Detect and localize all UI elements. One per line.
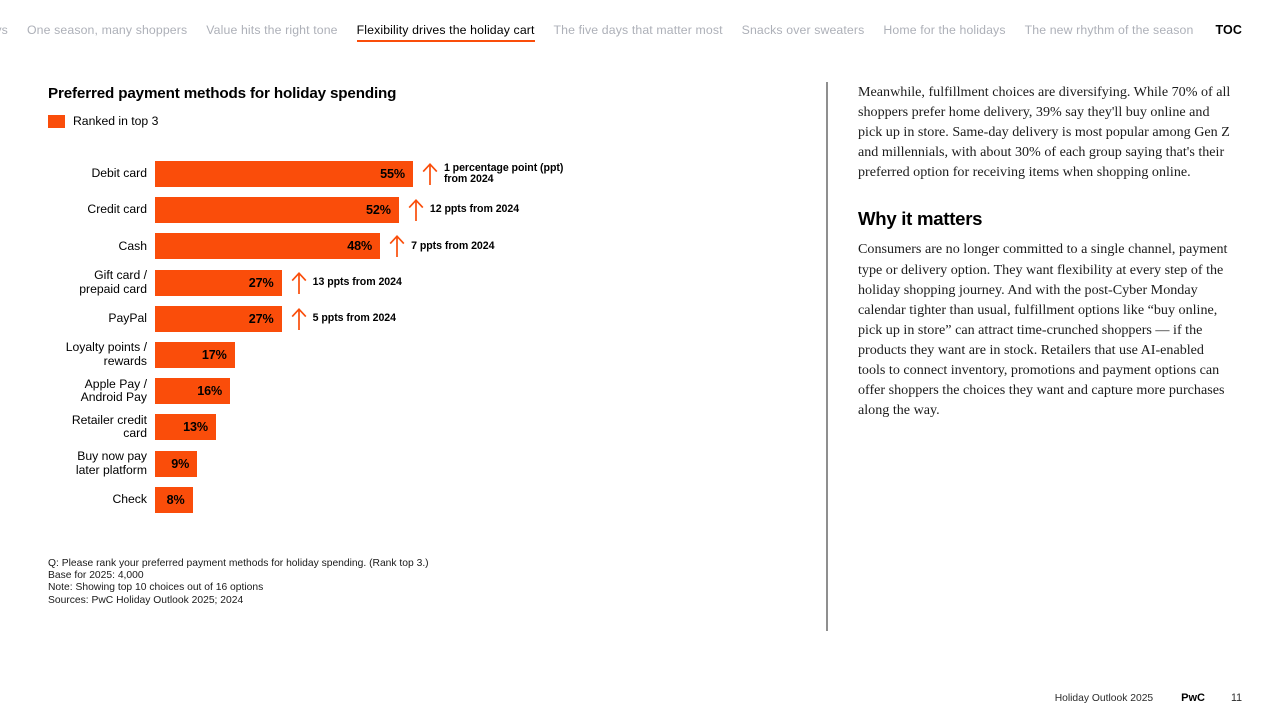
bar: 17%: [155, 342, 235, 368]
bar-row: Debit card55%1 percentage point (ppt) fr…: [48, 156, 808, 192]
bar-row: Loyalty points / rewards17%: [48, 337, 808, 373]
delta-annotation: 12 ppts from 2024: [408, 197, 519, 223]
footer-page-number: 11: [1231, 692, 1242, 704]
bar-row: Gift card / prepaid card27%13 ppts from …: [48, 265, 808, 301]
bar-row: Check8%: [48, 482, 808, 518]
nav-item-1[interactable]: One season, many shoppers: [27, 19, 187, 42]
chart-footnotes: Q: Please rank your preferred payment me…: [48, 558, 808, 607]
bar-wrapper: 16%: [155, 373, 230, 409]
delta-annotation: 1 percentage point (ppt) from 2024: [422, 161, 563, 187]
bar-row: Cash48%7 ppts from 2024: [48, 228, 808, 264]
bar-label: Loyalty points / rewards: [48, 341, 155, 368]
bar-wrapper: 17%: [155, 337, 235, 373]
why-it-matters-paragraph: Consumers are no longer committed to a s…: [858, 239, 1231, 420]
nav-toc-button[interactable]: TOC: [1215, 19, 1242, 42]
bar-wrapper: 27%13 ppts from 2024: [155, 265, 402, 301]
legend-label: Ranked in top 3: [73, 114, 158, 128]
bar-label: Buy now pay later platform: [48, 450, 155, 477]
footnote-line: Base for 2025: 4,000: [48, 570, 808, 582]
footnote-line: Sources: PwC Holiday Outlook 2025; 2024: [48, 595, 808, 607]
footnote-line: Q: Please rank your preferred payment me…: [48, 558, 808, 570]
chart-panel: Preferred payment methods for holiday sp…: [48, 60, 808, 607]
bar-chart: Debit card55%1 percentage point (ppt) fr…: [48, 156, 808, 518]
delta-annotation: 13 ppts from 2024: [291, 270, 402, 296]
delta-text: 12 ppts from 2024: [430, 204, 519, 216]
bar-value-label: 9%: [171, 457, 189, 471]
bar-value-label: 27%: [249, 276, 274, 290]
nav-item-4[interactable]: The five days that matter most: [554, 19, 723, 42]
bar: 13%: [155, 414, 216, 440]
bar-label: Cash: [48, 240, 155, 254]
bar-row: PayPal27%5 ppts from 2024: [48, 301, 808, 337]
delta-text: 13 ppts from 2024: [313, 277, 402, 289]
footnote-line: Note: Showing top 10 choices out of 16 o…: [48, 582, 808, 594]
bar-label: PayPal: [48, 312, 155, 326]
footer-brand-pwc: PwC: [1181, 692, 1205, 704]
arrow-up-icon: [408, 198, 424, 222]
why-it-matters-heading: Why it matters: [858, 208, 1231, 230]
page-footer: Holiday Outlook 2025 PwC 11: [1055, 692, 1242, 704]
bar-value-label: 27%: [249, 312, 274, 326]
bar-wrapper: 8%: [155, 482, 193, 518]
arrow-up-icon: [291, 271, 307, 295]
delta-text: 1 percentage point (ppt) from 2024: [444, 163, 563, 186]
bar-value-label: 55%: [380, 167, 405, 181]
legend-swatch-ranked-in-top-3: [48, 115, 65, 128]
bar-wrapper: 52%12 ppts from 2024: [155, 192, 519, 228]
bar-wrapper: 48%7 ppts from 2024: [155, 228, 494, 264]
bar-label: Apple Pay / Android Pay: [48, 378, 155, 405]
bar-label: Check: [48, 493, 155, 507]
bar: 9%: [155, 451, 197, 477]
bar-value-label: 48%: [347, 239, 372, 253]
footer-document-title: Holiday Outlook 2025: [1055, 693, 1153, 704]
bar: 55%: [155, 161, 413, 187]
nav-item-7[interactable]: The new rhythm of the season: [1025, 19, 1194, 42]
chart-title: Preferred payment methods for holiday sp…: [48, 85, 808, 102]
arrow-up-icon: [389, 234, 405, 258]
bar-value-label: 13%: [183, 420, 208, 434]
bar-row: Credit card52%12 ppts from 2024: [48, 192, 808, 228]
intro-paragraph: Meanwhile, fulfillment choices are diver…: [858, 82, 1231, 182]
bar: 52%: [155, 197, 399, 223]
bar-label: Debit card: [48, 167, 155, 181]
main-content: Preferred payment methods for holiday sp…: [0, 60, 1278, 660]
bar-wrapper: 13%: [155, 409, 216, 445]
bar-wrapper: 9%: [155, 446, 197, 482]
delta-annotation: 7 ppts from 2024: [389, 233, 494, 259]
bar-label: Retailer credit card: [48, 414, 155, 441]
bar-label: Gift card / prepaid card: [48, 269, 155, 296]
bar: 27%: [155, 270, 282, 296]
nav-item-3-active[interactable]: Flexibility drives the holiday cart: [357, 19, 535, 42]
vertical-divider: [826, 82, 828, 631]
chart-legend: Ranked in top 3: [48, 114, 808, 128]
bar: 27%: [155, 306, 282, 332]
bar-value-label: 17%: [202, 348, 227, 362]
arrow-up-icon: [422, 162, 438, 186]
nav-item-5[interactable]: Snacks over sweaters: [742, 19, 865, 42]
delta-text: 7 ppts from 2024: [411, 241, 494, 253]
nav-item-2[interactable]: Value hits the right tone: [206, 19, 337, 42]
bar-wrapper: 27%5 ppts from 2024: [155, 301, 396, 337]
bar: 48%: [155, 233, 380, 259]
nav-item-0[interactable]: Spending slows, celebration stays: [0, 19, 8, 42]
article-panel: Meanwhile, fulfillment choices are diver…: [858, 82, 1231, 420]
arrow-up-icon: [291, 307, 307, 331]
delta-annotation: 5 ppts from 2024: [291, 306, 396, 332]
bar-value-label: 52%: [366, 203, 391, 217]
top-navigation: Spending slows, celebration staysOne sea…: [0, 0, 1278, 60]
bar-label: Credit card: [48, 203, 155, 217]
bar-value-label: 16%: [197, 384, 222, 398]
bar: 8%: [155, 487, 193, 513]
bar-row: Retailer credit card13%: [48, 409, 808, 445]
bar: 16%: [155, 378, 230, 404]
bar-row: Apple Pay / Android Pay16%: [48, 373, 808, 409]
bar-value-label: 8%: [167, 493, 185, 507]
bar-row: Buy now pay later platform9%: [48, 446, 808, 482]
bar-wrapper: 55%1 percentage point (ppt) from 2024: [155, 156, 563, 192]
nav-item-6[interactable]: Home for the holidays: [883, 19, 1005, 42]
delta-text: 5 ppts from 2024: [313, 313, 396, 325]
